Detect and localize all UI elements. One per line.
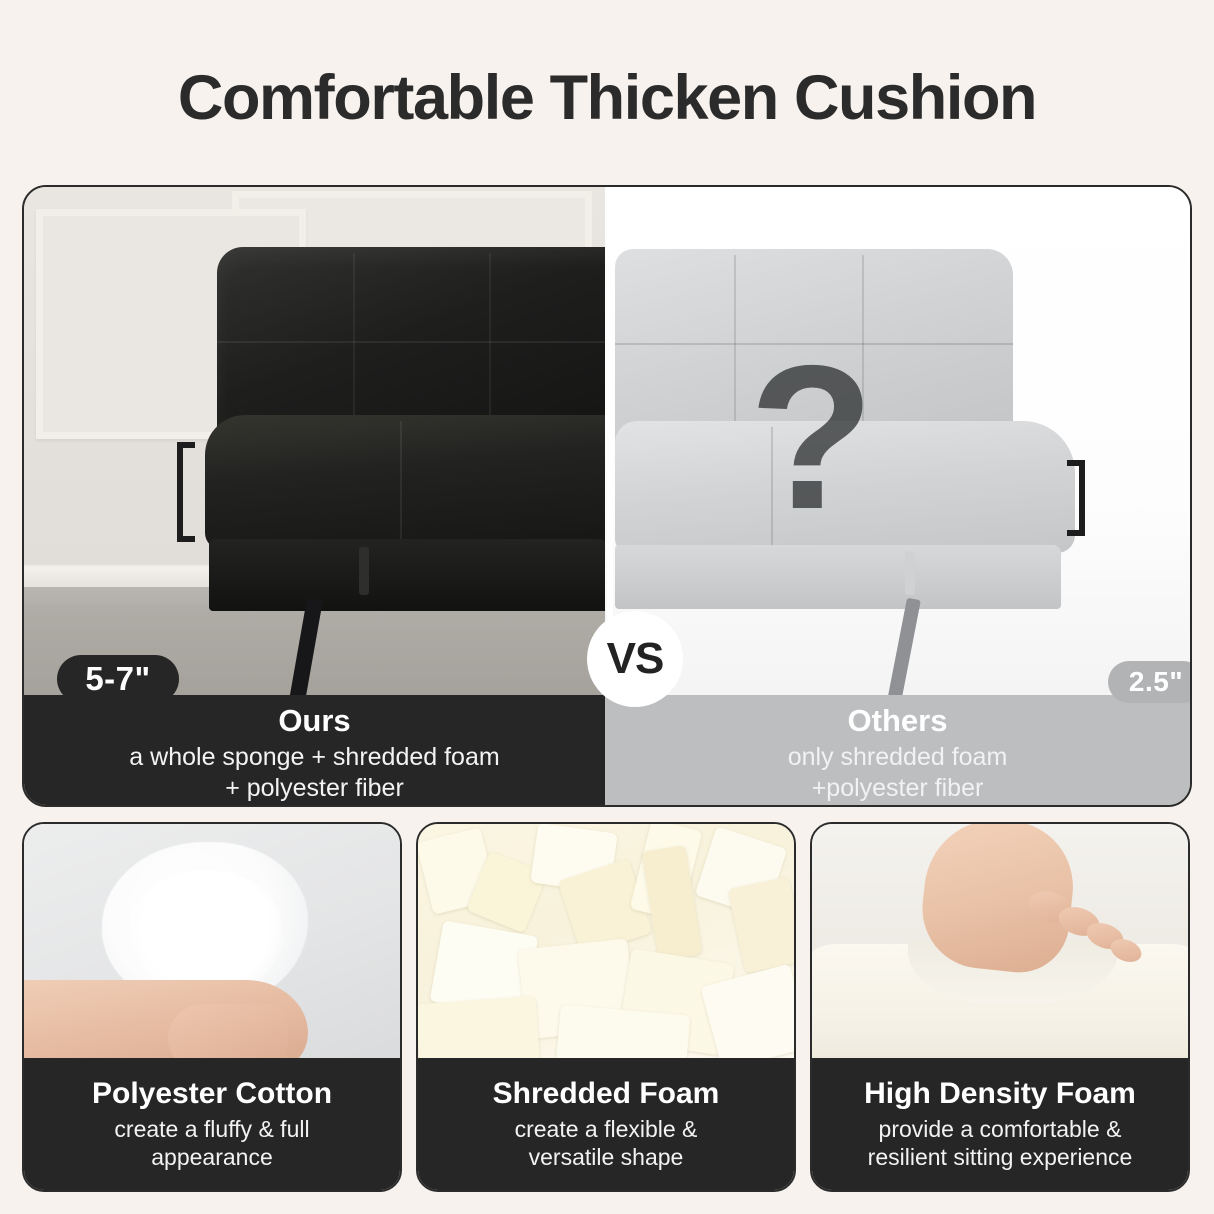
card-title: High Density Foam <box>864 1077 1136 1110</box>
ours-caption-subtitle: a whole sponge + shredded foam + polyest… <box>129 742 499 805</box>
material-card-high-density-foam: High Density Foam provide a comfortable … <box>810 822 1190 1192</box>
sofa-base <box>615 545 1061 609</box>
others-caption-title: Others <box>848 704 948 738</box>
ours-caption: Ours a whole sponge + shredded foam + po… <box>24 695 605 807</box>
ours-thickness-badge: 5-7" <box>57 655 179 703</box>
ours-caption-line1: a whole sponge + shredded foam <box>129 742 499 773</box>
card-subtitle-line1: provide a comfortable & <box>868 1115 1133 1143</box>
card-caption: Shredded Foam create a flexible & versat… <box>418 1058 794 1190</box>
shredded-foam-photo <box>418 824 794 1064</box>
fiber-cloud-highlight <box>128 870 284 996</box>
sofa-backrest <box>217 247 605 443</box>
others-caption-line2: +polyester fiber <box>788 773 1008 804</box>
fingers <box>1028 892 1142 962</box>
others-caption-line1: only shredded foam <box>788 742 1008 773</box>
others-measure-bracket <box>1067 460 1085 536</box>
sofa-seat-cushion <box>205 415 605 549</box>
material-card-shredded-foam: Shredded Foam create a flexible & versat… <box>416 822 796 1192</box>
hand <box>24 980 308 1064</box>
card-subtitle-line1: create a flexible & <box>515 1115 698 1143</box>
card-subtitle-line2: resilient sitting experience <box>868 1143 1133 1171</box>
ours-caption-line2: + polyester fiber <box>129 773 499 804</box>
infographic-page: Comfortable Thicken Cushion <box>0 0 1214 1214</box>
page-title: Comfortable Thicken Cushion <box>0 62 1214 134</box>
card-subtitle: provide a comfortable & resilient sittin… <box>868 1115 1133 1171</box>
material-card-polyester-cotton: Polyester Cotton create a fluffy & full … <box>22 822 402 1192</box>
tuft-seam <box>489 253 491 437</box>
foam-chunk <box>418 996 540 1064</box>
others-caption: Others only shredded foam +polyester fib… <box>605 695 1190 807</box>
hero-caption-row: Ours a whole sponge + shredded foam + po… <box>24 695 1190 807</box>
foam-chunk <box>556 1004 691 1064</box>
card-subtitle-line2: appearance <box>114 1143 309 1171</box>
polyester-fiber-photo <box>24 824 400 1064</box>
card-title: Shredded Foam <box>493 1077 720 1110</box>
card-subtitle: create a fluffy & full appearance <box>114 1115 309 1171</box>
ours-photo-panel <box>24 187 605 695</box>
others-thickness-badge: 2.5" <box>1108 661 1192 703</box>
sofa-base <box>209 539 605 611</box>
card-caption: High Density Foam provide a comfortable … <box>812 1058 1188 1190</box>
black-futon-sofa <box>199 247 605 667</box>
card-subtitle: create a flexible & versatile shape <box>515 1115 698 1171</box>
material-card-row: Polyester Cotton create a fluffy & full … <box>22 822 1192 1192</box>
card-caption: Polyester Cotton create a fluffy & full … <box>24 1058 400 1190</box>
card-title: Polyester Cotton <box>92 1077 332 1110</box>
tuft-seam <box>353 253 355 437</box>
comparison-hero: ? 5-7" 2.5" VS Ours a whole sponge + shr… <box>22 185 1192 807</box>
others-caption-subtitle: only shredded foam +polyester fiber <box>788 742 1008 805</box>
card-subtitle-line2: versatile shape <box>515 1143 698 1171</box>
tuft-seam <box>734 255 736 443</box>
vs-badge: VS <box>587 611 683 707</box>
ours-measure-bracket <box>177 442 195 542</box>
ours-caption-title: Ours <box>278 704 350 738</box>
high-density-foam-photo <box>812 824 1188 1064</box>
card-subtitle-line1: create a fluffy & full <box>114 1115 309 1143</box>
question-mark-overlay: ? <box>749 335 874 540</box>
others-photo-panel: ? <box>605 187 1190 695</box>
